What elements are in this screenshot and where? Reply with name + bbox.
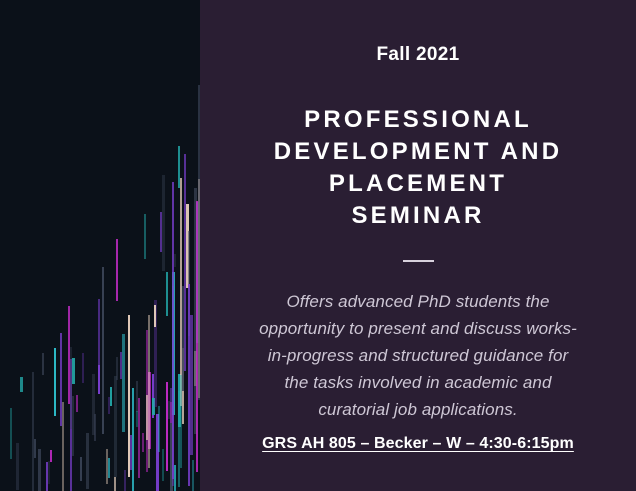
title-line: Placement xyxy=(200,168,636,200)
artwork-bar xyxy=(166,382,168,471)
course-details-text: GRS AH 805 – Becker – W – 4:30-6:15pm xyxy=(262,435,574,452)
artwork-bar xyxy=(132,388,134,491)
artwork-bar xyxy=(110,387,112,406)
artwork-bar xyxy=(72,358,75,384)
artwork-bar xyxy=(124,470,126,491)
artwork-bar xyxy=(32,372,34,491)
artwork-bar xyxy=(10,408,12,459)
term-label: Fall 2021 xyxy=(200,44,636,66)
artwork-bar xyxy=(174,254,176,267)
title-line: Seminar xyxy=(200,200,636,232)
artwork-bar xyxy=(138,398,140,478)
title-line: Development and xyxy=(200,136,636,168)
page-title: Professional Development and Placement S… xyxy=(200,104,636,232)
description-line: Offers advanced PhD students the xyxy=(200,288,636,315)
artwork-bar xyxy=(114,477,116,491)
artwork-bar xyxy=(142,433,144,452)
artwork-bar xyxy=(192,460,194,491)
artwork-bar xyxy=(148,315,150,468)
description-line: opportunity to present and discuss works… xyxy=(200,315,636,342)
artwork-bar xyxy=(144,214,146,259)
artwork-bar xyxy=(76,395,78,412)
artwork-bar xyxy=(174,465,176,491)
artwork-bar xyxy=(114,376,117,477)
seminar-poster: Fall 2021 Professional Development and P… xyxy=(0,0,636,491)
artwork-bar xyxy=(42,353,44,375)
artwork-bar xyxy=(162,449,164,481)
artwork-bar xyxy=(116,239,118,301)
artwork-bar xyxy=(166,272,168,316)
artwork-bar xyxy=(154,305,156,327)
artwork-bar xyxy=(86,433,89,489)
artwork-bar xyxy=(34,439,36,458)
artwork-bar xyxy=(80,457,82,481)
artwork-panel xyxy=(0,0,200,491)
divider xyxy=(403,260,434,262)
artwork-bar xyxy=(38,449,41,491)
artwork-bar xyxy=(16,443,19,490)
artwork-bar xyxy=(82,353,84,383)
artwork-bar xyxy=(94,414,96,441)
artwork-bar xyxy=(108,458,110,478)
artwork-bar xyxy=(116,357,118,380)
vertical-streak-bars-icon xyxy=(0,0,200,491)
description-line: in-progress and structured guidance for xyxy=(200,342,636,369)
artwork-bar xyxy=(72,396,74,456)
artwork-bar xyxy=(190,315,193,455)
course-details: GRS AH 805 – Becker – W – 4:30-6:15pm xyxy=(200,434,636,454)
description-line: the tasks involved in academic and xyxy=(200,369,636,396)
content-panel: Fall 2021 Professional Development and P… xyxy=(200,0,636,491)
artwork-bar xyxy=(158,406,160,452)
artwork-bar xyxy=(54,348,56,416)
title-line: Professional xyxy=(200,104,636,136)
artwork-bar xyxy=(122,334,125,432)
artwork-bar xyxy=(20,377,23,392)
description-line: curatorial job applications. xyxy=(200,396,636,423)
artwork-bar xyxy=(102,267,104,434)
artwork-bar xyxy=(48,461,50,484)
artwork-bar xyxy=(62,402,64,491)
artwork-bar xyxy=(50,450,52,462)
artwork-bar xyxy=(98,299,100,394)
description-text: Offers advanced PhD students the opportu… xyxy=(200,288,636,423)
artwork-bar xyxy=(172,182,174,479)
artwork-bar xyxy=(162,175,165,271)
